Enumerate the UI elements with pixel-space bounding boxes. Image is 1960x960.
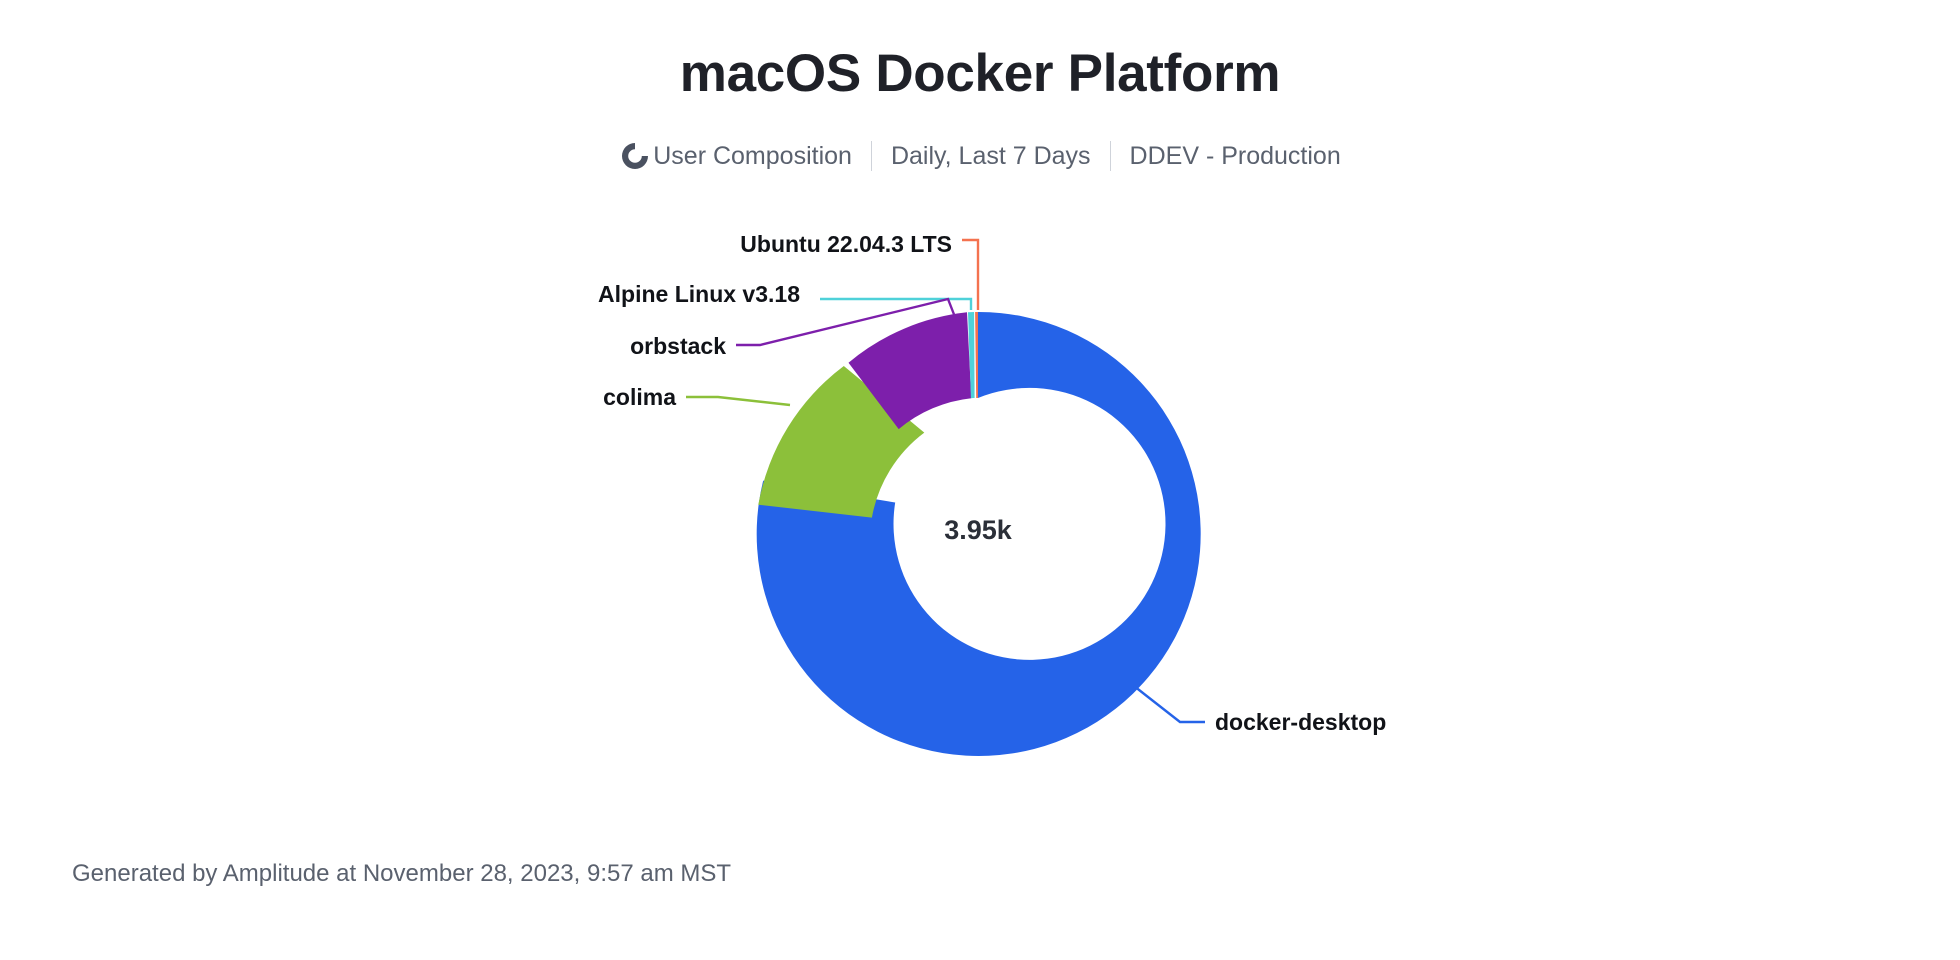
slice-label-colima: colima (0, 386, 676, 409)
chart-footer-attribution: Generated by Amplitude at November 28, 2… (72, 860, 731, 888)
donut-chart (0, 0, 1960, 960)
leader-line-docker-desktop (1134, 686, 1205, 722)
leader-line-colima (686, 397, 790, 405)
slice-label-docker-desktop: docker-desktop (1215, 711, 1715, 734)
slice-docker-desktop[interactable] (757, 312, 1201, 756)
slice-ubuntu[interactable] (975, 312, 978, 398)
slice-label-ubuntu: Ubuntu 22.04.3 LTS (0, 233, 952, 256)
slice-label-alpine: Alpine Linux v3.18 (0, 283, 800, 306)
chart-card: macOS Docker Platform User Composition D… (0, 0, 1960, 960)
slice-label-orbstack: orbstack (0, 335, 726, 358)
donut-slices (757, 312, 1201, 756)
